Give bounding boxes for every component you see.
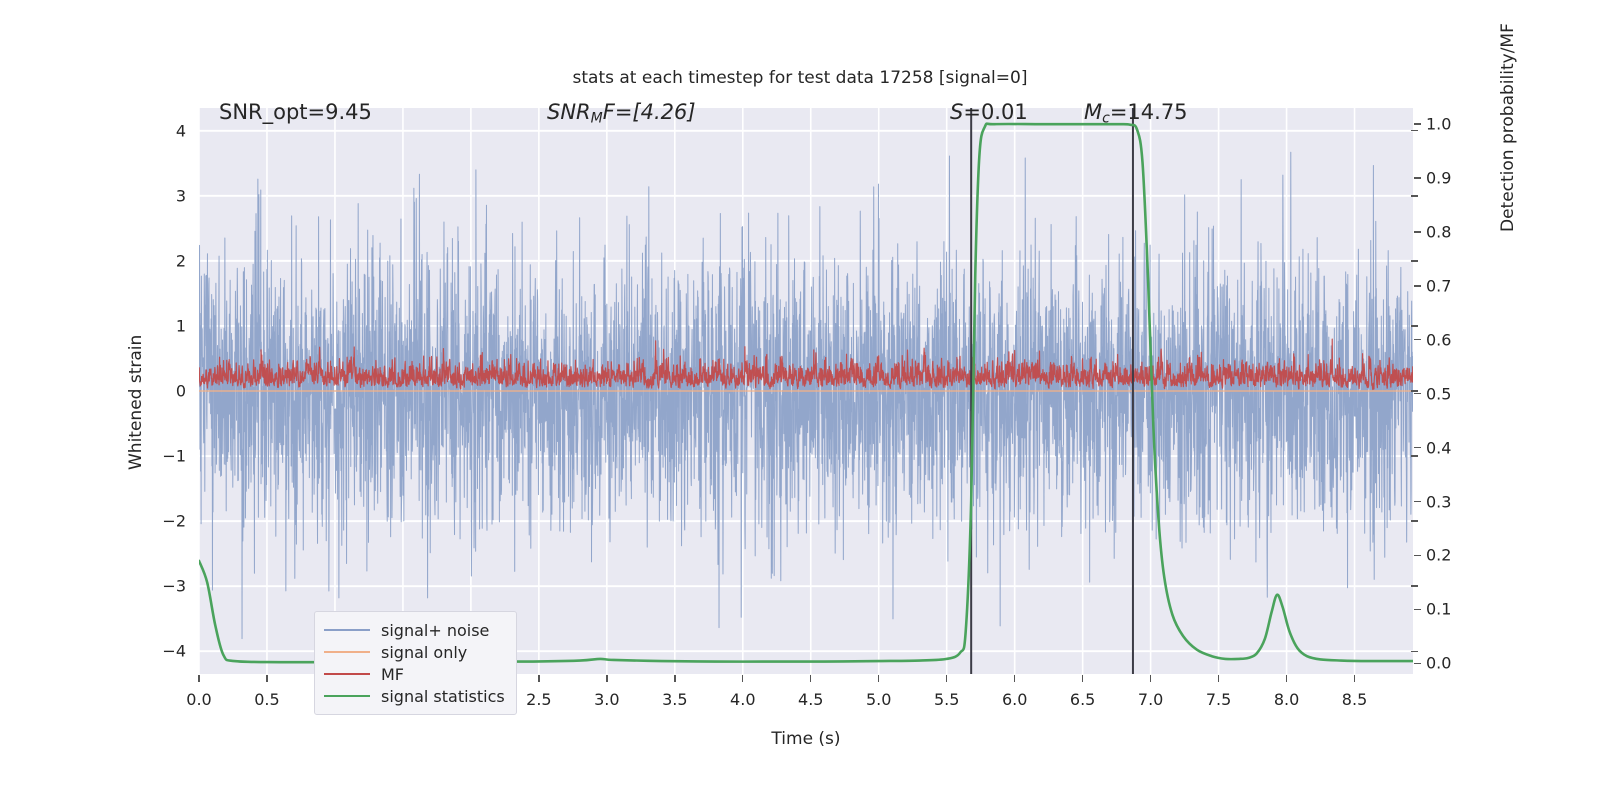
y-axis-left-tickmark — [1411, 651, 1418, 652]
legend-color-swatch — [324, 629, 370, 631]
legend-item[interactable]: signal+ noise — [324, 619, 505, 641]
y-axis-right-tick-label: 0.8 — [1426, 222, 1451, 241]
y-axis-left-tickmark — [1411, 325, 1418, 326]
annotation-snr-mf-suffix: F=[4.26] — [603, 100, 696, 124]
y-axis-left-tickmark — [1411, 260, 1418, 261]
series-signal-plus-noise — [199, 152, 1413, 638]
annotation-s-symbol: S — [950, 100, 963, 124]
annotation-snr-mf: SNRMF=[4.26] — [547, 100, 696, 127]
x-axis-tick-label: 2.5 — [526, 690, 551, 709]
x-axis-tickmark — [742, 675, 743, 682]
y-axis-left-tick-label: 4 — [176, 121, 186, 140]
y-axis-left-tickmark — [1411, 130, 1418, 131]
x-axis-tickmark — [538, 675, 539, 682]
annotation-mc-symbol: M — [1084, 100, 1102, 124]
x-axis-tick-label: 4.0 — [730, 690, 755, 709]
x-axis-tick-label: 0.5 — [254, 690, 279, 709]
x-axis-tick-label: 5.0 — [866, 690, 891, 709]
y-axis-right-tick-label: 0.9 — [1426, 169, 1451, 188]
y-axis-right-tick-label: 0.1 — [1426, 600, 1451, 619]
y-axis-left-tickmark — [1411, 520, 1418, 521]
y-axis-right-tick-label: 0.4 — [1426, 438, 1451, 457]
annotation-snr-mf-prefix: SNR — [547, 100, 591, 124]
legend-label: MF — [381, 665, 404, 684]
plot-svg — [199, 108, 1413, 674]
chart-legend: signal+ noisesignal onlyMFsignal statist… — [314, 611, 517, 715]
x-axis-tickmark — [810, 675, 811, 682]
y-axis-left-tick-label: 0 — [176, 382, 186, 401]
annotation-snr-opt: SNR_opt=9.45 — [219, 100, 372, 124]
y-axis-left-tick-label: −2 — [162, 512, 186, 531]
legend-color-swatch — [324, 673, 370, 675]
y-axis-right-tick-label: 1.0 — [1426, 115, 1451, 134]
annotation-snr-mf-subscript: M — [591, 111, 603, 127]
legend-item[interactable]: signal statistics — [324, 685, 505, 707]
y-axis-right-tickmark — [1414, 339, 1421, 340]
y-axis-left-tick-label: −1 — [162, 447, 186, 466]
y-axis-right-tick-label: 0.6 — [1426, 330, 1451, 349]
y-axis-right-tickmark — [1414, 447, 1421, 448]
y-axis-left-label: Whitened strain — [126, 335, 146, 470]
y-axis-right-tick-label: 0.2 — [1426, 546, 1451, 565]
y-axis-left-tickmark — [1411, 585, 1418, 586]
x-axis-tickmark — [1082, 675, 1083, 682]
legend-color-swatch — [324, 651, 370, 653]
legend-label: signal statistics — [381, 687, 505, 706]
x-axis-tick-label: 6.0 — [1002, 690, 1027, 709]
x-axis-tick-label: 3.5 — [662, 690, 687, 709]
y-axis-right-tick-label: 0.7 — [1426, 276, 1451, 295]
y-axis-right-tickmark — [1414, 393, 1421, 394]
x-axis-tick-label: 4.5 — [798, 690, 823, 709]
legend-item[interactable]: signal only — [324, 641, 505, 663]
y-axis-left-tick-label: 1 — [176, 316, 186, 335]
figure-canvas: stats at each timestep for test data 172… — [0, 0, 1600, 800]
annotation-s-number: =0.01 — [963, 100, 1027, 124]
x-axis-tickmark — [674, 675, 675, 682]
y-axis-right-tick-label: 0.3 — [1426, 492, 1451, 511]
y-axis-right-tickmark — [1414, 501, 1421, 502]
y-axis-left-tick-label: −3 — [162, 577, 186, 596]
y-axis-left-tickmark — [1411, 390, 1418, 391]
legend-color-swatch — [324, 695, 370, 697]
x-axis-tickmark — [1014, 675, 1015, 682]
y-axis-right-tickmark — [1414, 231, 1421, 232]
legend-label: signal only — [381, 643, 467, 662]
x-axis-tick-label: 8.5 — [1342, 690, 1367, 709]
annotation-mc-subscript: c — [1102, 111, 1110, 127]
legend-item[interactable]: MF — [324, 663, 505, 685]
y-axis-right-tickmark — [1414, 609, 1421, 610]
y-axis-left-tick-label: 3 — [176, 186, 186, 205]
x-axis-tickmark — [1286, 675, 1287, 682]
annotation-chirp-mass: Mc=14.75 — [1084, 100, 1188, 127]
x-axis-tickmark — [946, 675, 947, 682]
y-axis-left-tickmark — [1411, 455, 1418, 456]
x-axis-tick-label: 5.5 — [934, 690, 959, 709]
x-axis-tick-label: 7.0 — [1138, 690, 1163, 709]
x-axis-tickmark — [266, 675, 267, 682]
y-axis-left-tick-label: −4 — [162, 642, 186, 661]
y-axis-right-tickmark — [1414, 177, 1421, 178]
x-axis-label: Time (s) — [199, 729, 1413, 749]
y-axis-right-label: Detection probability/MF — [1498, 23, 1518, 232]
x-axis-tickmark — [1354, 675, 1355, 682]
y-axis-right-tickmark — [1414, 663, 1421, 664]
y-axis-right-tick-label: 0.5 — [1426, 384, 1451, 403]
x-axis-tickmark — [198, 675, 199, 682]
x-axis-tick-label: 0.0 — [186, 690, 211, 709]
legend-label: signal+ noise — [381, 621, 489, 640]
x-axis-tick-label: 6.5 — [1070, 690, 1095, 709]
x-axis-tick-label: 8.0 — [1274, 690, 1299, 709]
y-axis-right-tickmark — [1414, 123, 1421, 124]
y-axis-left-tickmark — [1411, 195, 1418, 196]
x-axis-tickmark — [1218, 675, 1219, 682]
annotation-mc-number: =14.75 — [1110, 100, 1188, 124]
x-axis-tickmark — [1150, 675, 1151, 682]
x-axis-tickmark — [878, 675, 879, 682]
x-axis-tickmark — [606, 675, 607, 682]
plot-area — [199, 108, 1413, 674]
y-axis-left-tick-label: 2 — [176, 251, 186, 270]
chart-title: stats at each timestep for test data 172… — [0, 68, 1600, 88]
x-axis-tick-label: 7.5 — [1206, 690, 1231, 709]
y-axis-right-tickmark — [1414, 285, 1421, 286]
x-axis-tick-label: 3.0 — [594, 690, 619, 709]
y-axis-right-tickmark — [1414, 555, 1421, 556]
y-axis-right-tick-label: 0.0 — [1426, 654, 1451, 673]
annotation-s-value: S=0.01 — [950, 100, 1028, 124]
